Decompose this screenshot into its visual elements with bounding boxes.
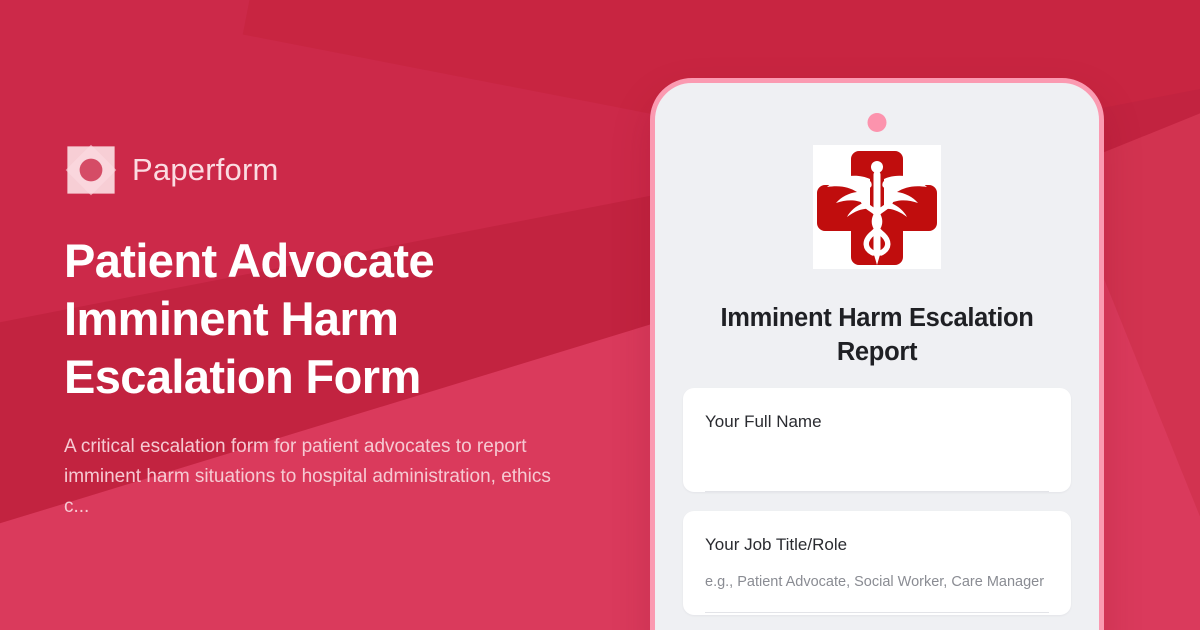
medical-caduceus-cross-icon <box>813 145 941 269</box>
brand-name: Paperform <box>132 152 279 188</box>
field-label-full-name: Your Full Name <box>705 410 1049 434</box>
form-title: Imminent Harm Escalation Report <box>678 301 1076 369</box>
brand-lockup: Paperform <box>64 140 604 200</box>
field-input-job-title[interactable]: e.g., Patient Advocate, Social Worker, C… <box>705 573 1049 613</box>
field-input-full-name[interactable] <box>705 462 1049 492</box>
phone-mockup: Imminent Harm Escalation Report Your Ful… <box>650 78 1104 630</box>
paperform-star-logo-icon <box>64 143 118 197</box>
page-title: Patient Advocate Imminent Harm Escalatio… <box>64 232 534 406</box>
field-placeholder-job-title: e.g., Patient Advocate, Social Worker, C… <box>705 574 1044 590</box>
form-field-job-title[interactable]: Your Job Title/Role e.g., Patient Advoca… <box>683 511 1071 615</box>
field-label-job-title: Your Job Title/Role <box>705 533 1049 557</box>
hero-left-panel: Paperform Patient Advocate Imminent Harm… <box>64 140 604 522</box>
phone-screen: Imminent Harm Escalation Report Your Ful… <box>655 83 1099 630</box>
form-field-full-name[interactable]: Your Full Name <box>683 388 1071 492</box>
page-description: A critical escalation form for patient a… <box>64 432 564 522</box>
